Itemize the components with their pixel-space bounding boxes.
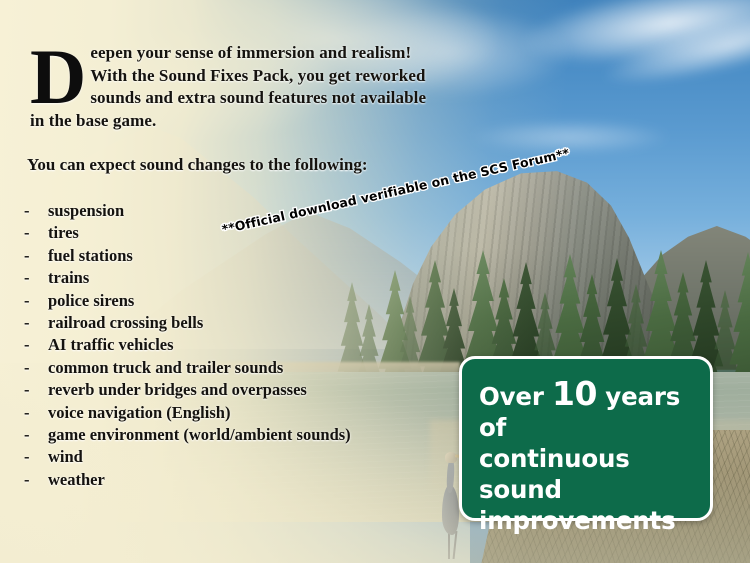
feature-label: game environment (world/ambient sounds) bbox=[48, 424, 351, 446]
feature-label: trains bbox=[48, 267, 89, 289]
feature-list-item: -trains bbox=[24, 267, 351, 289]
feature-list-item: -police sirens bbox=[24, 290, 351, 312]
lead-line: You can expect sound changes to the foll… bbox=[27, 155, 368, 175]
list-dash-marker: - bbox=[24, 222, 48, 244]
feature-list-item: -wind bbox=[24, 446, 351, 468]
feature-label: fuel stations bbox=[48, 245, 133, 267]
list-dash-marker: - bbox=[24, 334, 48, 356]
feature-list-item: -voice navigation (English) bbox=[24, 402, 351, 424]
feature-list-item: -game environment (world/ambient sounds) bbox=[24, 424, 351, 446]
feature-list: -suspension-tires-fuel stations-trains-p… bbox=[24, 200, 351, 491]
sign-line1-before: Over bbox=[479, 382, 552, 411]
feature-label: suspension bbox=[48, 200, 124, 222]
drop-cap-letter: D bbox=[30, 46, 86, 108]
sign-years-number: 10 bbox=[552, 374, 597, 413]
feature-list-item: -railroad crossing bells bbox=[24, 312, 351, 334]
sign-line-3: sound bbox=[479, 474, 698, 505]
feature-label: wind bbox=[48, 446, 83, 468]
intro-body-text: eepen your sense of immersion and realis… bbox=[30, 43, 426, 130]
list-dash-marker: - bbox=[24, 402, 48, 424]
milestone-sign: Over 10 years of continuous sound improv… bbox=[459, 356, 713, 521]
feature-label: AI traffic vehicles bbox=[48, 334, 174, 356]
list-dash-marker: - bbox=[24, 357, 48, 379]
sign-line-1: Over 10 years of bbox=[479, 378, 698, 443]
list-dash-marker: - bbox=[24, 200, 48, 222]
feature-label: police sirens bbox=[48, 290, 134, 312]
sign-line-4: improvements bbox=[479, 505, 698, 536]
poster-root: D eepen your sense of immersion and real… bbox=[0, 0, 750, 563]
feature-list-item: -AI traffic vehicles bbox=[24, 334, 351, 356]
sign-line-2: continuous bbox=[479, 443, 698, 474]
list-dash-marker: - bbox=[24, 245, 48, 267]
list-dash-marker: - bbox=[24, 469, 48, 491]
list-dash-marker: - bbox=[24, 379, 48, 401]
list-dash-marker: - bbox=[24, 312, 48, 334]
feature-label: reverb under bridges and overpasses bbox=[48, 379, 307, 401]
feature-label: railroad crossing bells bbox=[48, 312, 203, 334]
feature-label: tires bbox=[48, 222, 79, 244]
feature-list-item: -tires bbox=[24, 222, 351, 244]
feature-list-item: -weather bbox=[24, 469, 351, 491]
list-dash-marker: - bbox=[24, 424, 48, 446]
feature-label: common truck and trailer sounds bbox=[48, 357, 283, 379]
feature-label: weather bbox=[48, 469, 105, 491]
feature-list-item: -fuel stations bbox=[24, 245, 351, 267]
sign-text-block: Over 10 years of continuous sound improv… bbox=[479, 378, 698, 536]
list-dash-marker: - bbox=[24, 267, 48, 289]
poster-content: D eepen your sense of immersion and real… bbox=[0, 0, 750, 563]
list-dash-marker: - bbox=[24, 446, 48, 468]
intro-paragraph: D eepen your sense of immersion and real… bbox=[30, 42, 430, 132]
feature-list-item: -common truck and trailer sounds bbox=[24, 357, 351, 379]
feature-list-item: -reverb under bridges and overpasses bbox=[24, 379, 351, 401]
list-dash-marker: - bbox=[24, 290, 48, 312]
feature-label: voice navigation (English) bbox=[48, 402, 230, 424]
